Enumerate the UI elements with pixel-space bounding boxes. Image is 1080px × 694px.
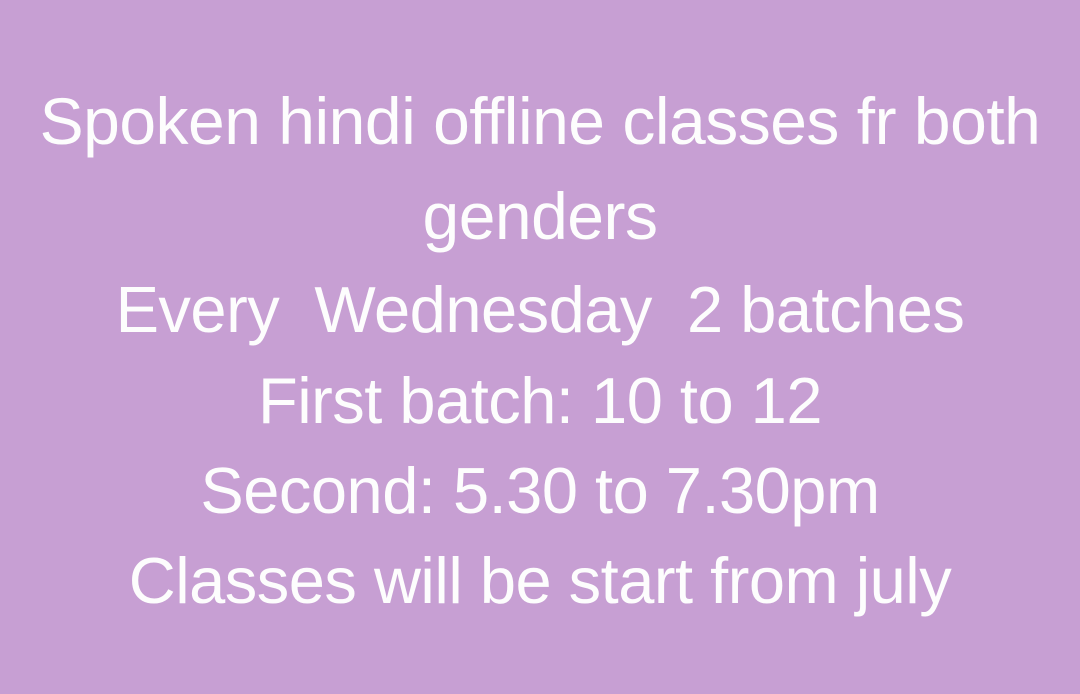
notice-poster: Spoken hindi offline classes fr both gen… — [0, 0, 1080, 694]
notice-text-block: Spoken hindi offline classes fr both gen… — [0, 74, 1080, 626]
notice-schedule-day: Every Wednesday 2 batches — [0, 264, 1080, 356]
notice-batch-first: First batch: 10 to 12 — [0, 356, 1080, 446]
notice-headline: Spoken hindi offline classes fr both gen… — [0, 74, 1080, 264]
notice-batch-second: Second: 5.30 to 7.30pm — [0, 446, 1080, 536]
notice-start-note: Classes will be start from july — [0, 536, 1080, 626]
